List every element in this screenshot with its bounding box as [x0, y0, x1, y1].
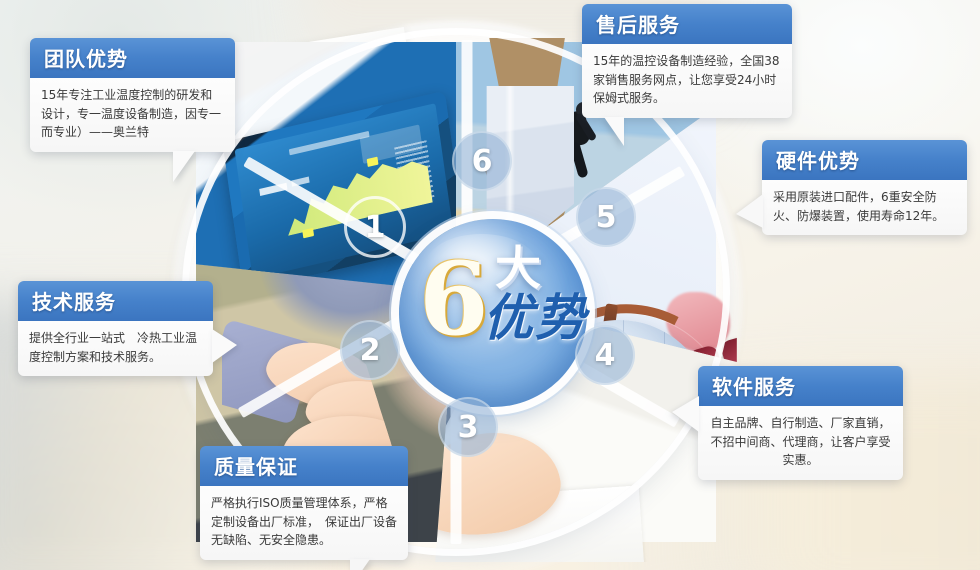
callout-quality-title: 质量保证: [200, 446, 408, 486]
badge-number-6[interactable]: 6: [452, 131, 512, 191]
callout-tail: [736, 194, 763, 228]
callout-tail: [173, 151, 195, 182]
center-number-six: 6: [419, 249, 489, 349]
callout-after-sales-title: 售后服务: [582, 4, 792, 44]
callout-quality-assurance[interactable]: 质量保证 严格执行ISO质量管理体系，严格定制设备出厂标准， 保证出厂设备无缺陷…: [200, 446, 408, 560]
callout-software-service[interactable]: 软件服务 自主品牌、自行制造、厂家直销，不招中间商、代理商，让客户享受实惠。: [698, 366, 903, 480]
callout-technical-service[interactable]: 技术服务 提供全行业一站式 冷热工业温度控制方案和技术服务。: [18, 281, 213, 376]
callout-tail: [604, 117, 624, 146]
callout-team-title: 团队优势: [30, 38, 235, 78]
callout-tail: [350, 559, 370, 570]
screen-title-bar: [288, 131, 369, 155]
center-sphere: 6 大 优势: [399, 219, 587, 407]
callout-quality-body: 严格执行ISO质量管理体系，严格定制设备出厂标准， 保证出厂设备无缺陷、无安全隐…: [200, 486, 408, 560]
screen-marker-high: [366, 157, 378, 167]
callout-hardware-body: 采用原装进口配件，6重安全防火、防爆装置，使用寿命12年。: [762, 180, 967, 235]
callout-after-sales[interactable]: 售后服务 15年的温控设备制造经验，全国38家销售服务网点，让您享受24小时保姆…: [582, 4, 792, 118]
screen-marker-low: [302, 228, 314, 238]
center-script-youshi: 优势: [483, 293, 587, 343]
callout-after-sales-body: 15年的温控设备制造经验，全国38家销售服务网点，让您享受24小时保姆式服务。: [582, 44, 792, 118]
infographic-canvas: 6 大 优势 1 2 3 4 5 6 团队优势 15年专注工业温度控制的研发和设…: [0, 0, 980, 570]
center-char-da: 大: [495, 245, 541, 291]
callout-team-advantage[interactable]: 团队优势 15年专注工业温度控制的研发和设计，专一温度设备制造，因专一而专业）—…: [30, 38, 235, 152]
callout-technical-body: 提供全行业一站式 冷热工业温度控制方案和技术服务。: [18, 321, 213, 376]
callout-software-title: 软件服务: [698, 366, 903, 406]
callout-hardware-title: 硬件优势: [762, 140, 967, 180]
callout-team-body: 15年专注工业温度控制的研发和设计，专一温度设备制造，因专一而专业）——奥兰特: [30, 78, 235, 152]
callout-software-body: 自主品牌、自行制造、厂家直销，不招中间商、代理商，让客户享受实惠。: [698, 406, 903, 480]
badge-number-2[interactable]: 2: [340, 320, 400, 380]
badge-number-5[interactable]: 5: [576, 187, 636, 247]
callout-technical-title: 技术服务: [18, 281, 213, 321]
badge-number-4[interactable]: 4: [575, 325, 635, 385]
callout-tail: [212, 329, 237, 363]
badge-number-3[interactable]: 3: [438, 397, 498, 457]
callout-hardware-advantage[interactable]: 硬件优势 采用原装进口配件，6重安全防火、防爆装置，使用寿命12年。: [762, 140, 967, 235]
badge-number-1[interactable]: 1: [344, 196, 406, 258]
callout-tail: [672, 396, 699, 432]
